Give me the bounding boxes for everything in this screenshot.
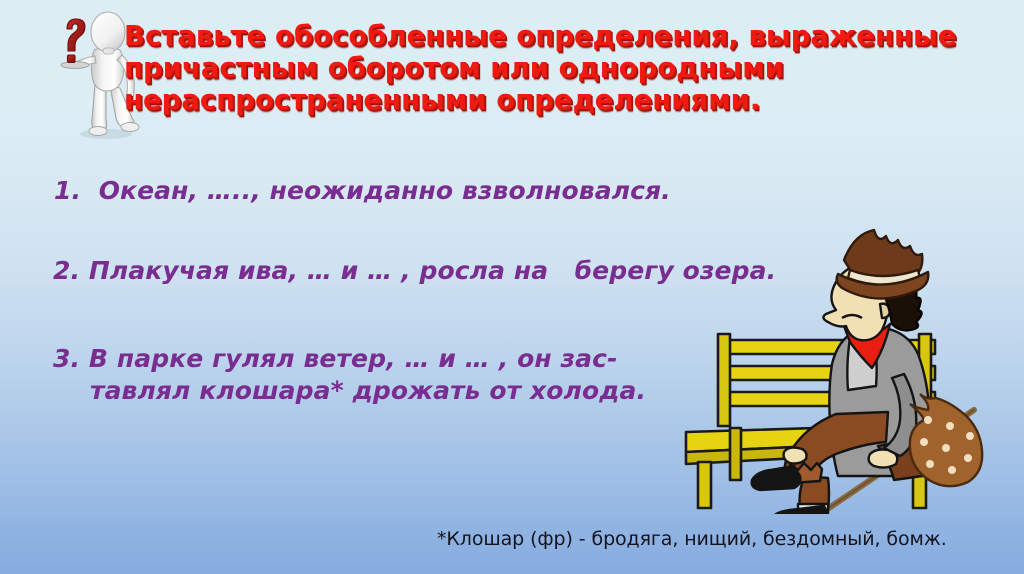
- task-item-1: 1. Океан, ….., неожиданно взволновался.: [54, 176, 671, 206]
- footnote-clochard-definition: *Клошар (фр) - бродяга, нищий, бездомный…: [437, 528, 947, 550]
- bindle-sack: [910, 394, 982, 486]
- bench-back-post-left: [718, 334, 730, 426]
- tramp-shoe-raised: [752, 466, 801, 490]
- task-item-2: 2. Плакучая ива, … и … , росла на берегу…: [53, 256, 776, 286]
- figure-right-foot: [121, 123, 139, 132]
- task-item-3-line-2: тавлял клошара* дрожать от холода.: [90, 376, 646, 406]
- slide-canvas: Вставьте обособленные определения, выраж…: [0, 0, 1024, 574]
- figure-head: [91, 12, 125, 52]
- title-line-2: причастным оборотом или однородными: [124, 52, 906, 84]
- figure-neck: [103, 48, 114, 54]
- bench-leg-back-left: [730, 428, 741, 480]
- figure-left-foot: [89, 127, 107, 136]
- title-line-1: Вставьте обособленные определения, выраж…: [124, 20, 906, 52]
- bench-leg-front-left: [698, 462, 711, 508]
- slide-title: Вставьте обособленные определения, выраж…: [124, 20, 914, 116]
- title-line-3: нераспространенными определениями.: [124, 84, 906, 116]
- tramp-hand-left: [784, 448, 807, 464]
- tramp-scene-svg: [678, 214, 1024, 514]
- tramp-on-bench-illustration: [678, 214, 1024, 514]
- question-mark-icon: [67, 19, 85, 63]
- task-item-3-line-1: 3. В парке гулял ветер, … и … , он зас-: [53, 344, 618, 374]
